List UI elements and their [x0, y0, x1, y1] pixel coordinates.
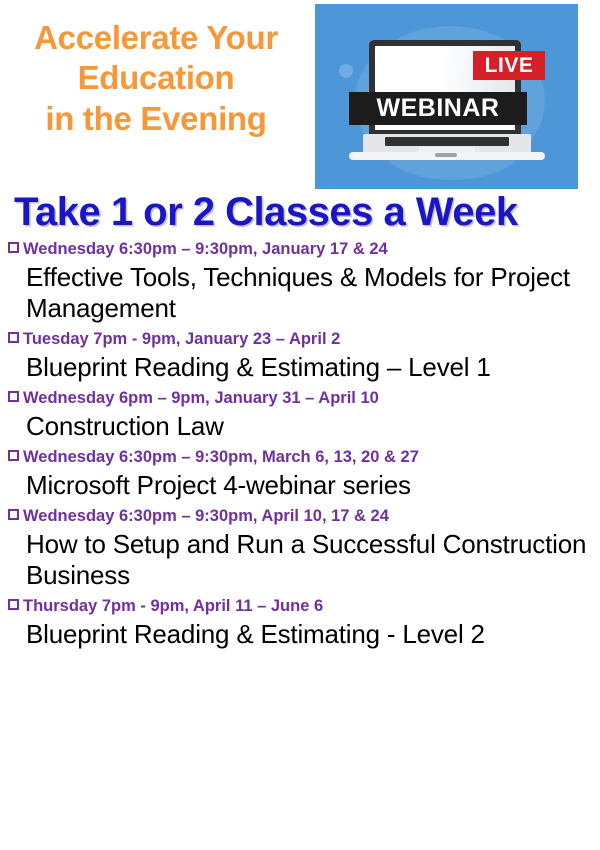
course-schedule-text: Wednesday 6pm – 9pm, January 31 – April …: [23, 388, 379, 410]
headline-line-1: Accelerate Your: [0, 18, 312, 58]
page-title: Take 1 or 2 Classes a Week: [0, 192, 600, 233]
laptop-base: [349, 134, 545, 160]
course-list: Wednesday 6:30pm – 9:30pm, January 17 & …: [0, 233, 600, 650]
live-badge: LIVE: [473, 51, 545, 80]
course-schedule: Wednesday 6:30pm – 9:30pm, March 6, 13, …: [8, 447, 600, 469]
laptop-lip-notch: [435, 153, 457, 157]
square-bullet-icon: [8, 242, 19, 253]
laptop-keyboard: [385, 137, 509, 146]
course-item: Tuesday 7pm - 9pm, January 23 – April 2B…: [0, 329, 600, 383]
headline-block: Accelerate Your Education in the Evening: [0, 18, 312, 139]
course-schedule: Thursday 7pm - 9pm, April 11 – June 6: [8, 596, 600, 618]
square-bullet-icon: [8, 332, 19, 343]
course-item: Wednesday 6:30pm – 9:30pm, January 17 & …: [0, 239, 600, 324]
course-schedule-text: Wednesday 6:30pm – 9:30pm, January 17 & …: [23, 239, 388, 261]
course-schedule: Wednesday 6:30pm – 9:30pm, January 17 & …: [8, 239, 600, 261]
headline-line-3: in the Evening: [0, 99, 312, 139]
live-webinar-graphic: LIVE WEBINAR: [315, 4, 578, 189]
course-item: Wednesday 6:30pm – 9:30pm, April 10, 17 …: [0, 506, 600, 591]
course-title: Construction Law: [8, 411, 600, 442]
course-item: Thursday 7pm - 9pm, April 11 – June 6Blu…: [0, 596, 600, 650]
course-schedule-text: Wednesday 6:30pm – 9:30pm, April 10, 17 …: [23, 506, 389, 528]
course-item: Wednesday 6pm – 9pm, January 31 – April …: [0, 388, 600, 442]
course-item: Wednesday 6:30pm – 9:30pm, March 6, 13, …: [0, 447, 600, 501]
course-schedule-text: Tuesday 7pm - 9pm, January 23 – April 2: [23, 329, 340, 351]
course-title: Effective Tools, Techniques & Models for…: [8, 262, 600, 324]
square-bullet-icon: [8, 599, 19, 610]
page-header: Accelerate Your Education in the Evening…: [0, 0, 600, 192]
laptop-icon: LIVE WEBINAR: [349, 40, 545, 164]
course-schedule-text: Thursday 7pm - 9pm, April 11 – June 6: [23, 596, 323, 618]
square-bullet-icon: [8, 450, 19, 461]
square-bullet-icon: [8, 391, 19, 402]
webinar-banner: WEBINAR: [349, 92, 527, 125]
course-schedule: Wednesday 6:30pm – 9:30pm, April 10, 17 …: [8, 506, 600, 528]
course-schedule: Tuesday 7pm - 9pm, January 23 – April 2: [8, 329, 600, 351]
square-bullet-icon: [8, 509, 19, 520]
headline-line-2: Education: [0, 58, 312, 98]
course-title: Microsoft Project 4-webinar series: [8, 470, 600, 501]
course-schedule: Wednesday 6pm – 9pm, January 31 – April …: [8, 388, 600, 410]
course-title: Blueprint Reading & Estimating - Level 2: [8, 619, 600, 650]
course-title: Blueprint Reading & Estimating – Level 1: [8, 352, 600, 383]
course-schedule-text: Wednesday 6:30pm – 9:30pm, March 6, 13, …: [23, 447, 419, 469]
course-title: How to Setup and Run a Successful Constr…: [8, 529, 600, 591]
